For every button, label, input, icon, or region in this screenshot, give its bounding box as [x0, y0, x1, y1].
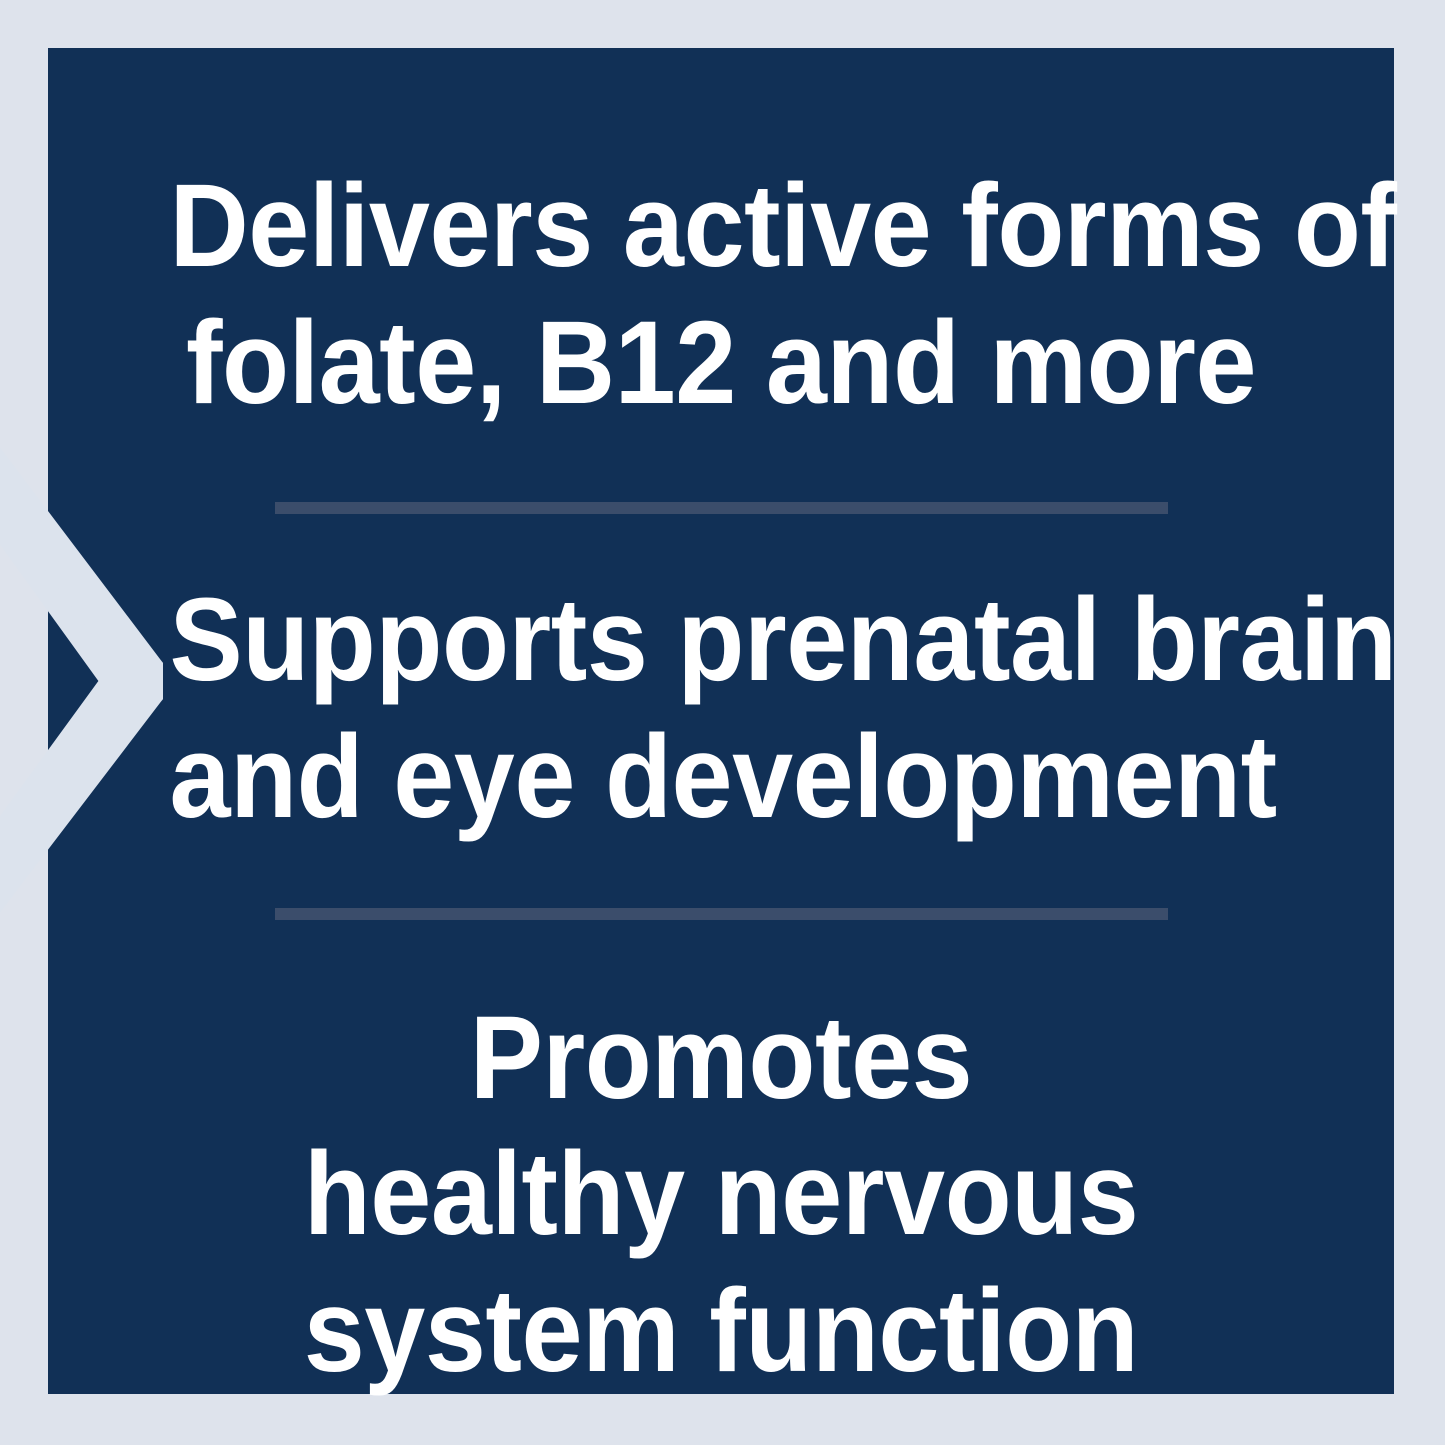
divider-2	[275, 908, 1168, 920]
benefit-3-line-2: healthy nervous	[170, 1126, 1273, 1263]
benefit-2-line-1: Supports prenatal brain	[170, 572, 1273, 709]
benefit-item-1: Delivers active forms of folate, B12 and…	[170, 158, 1273, 432]
benefits-card: Delivers active forms of folate, B12 and…	[0, 0, 1445, 1445]
benefit-2-line-2: and eye development	[170, 709, 1273, 846]
benefit-item-2: Supports prenatal brain and eye developm…	[170, 572, 1273, 846]
benefits-list: Delivers active forms of folate, B12 and…	[48, 48, 1394, 1394]
benefit-1-line-2: folate, B12 and more	[170, 295, 1273, 432]
benefit-1-line-1: Delivers active forms of	[170, 158, 1273, 295]
divider-1	[275, 502, 1168, 514]
benefit-3-line-3: system function	[170, 1263, 1273, 1400]
benefit-item-3: Promotes healthy nervous system function	[170, 990, 1273, 1401]
benefit-3-line-1: Promotes	[170, 990, 1273, 1127]
